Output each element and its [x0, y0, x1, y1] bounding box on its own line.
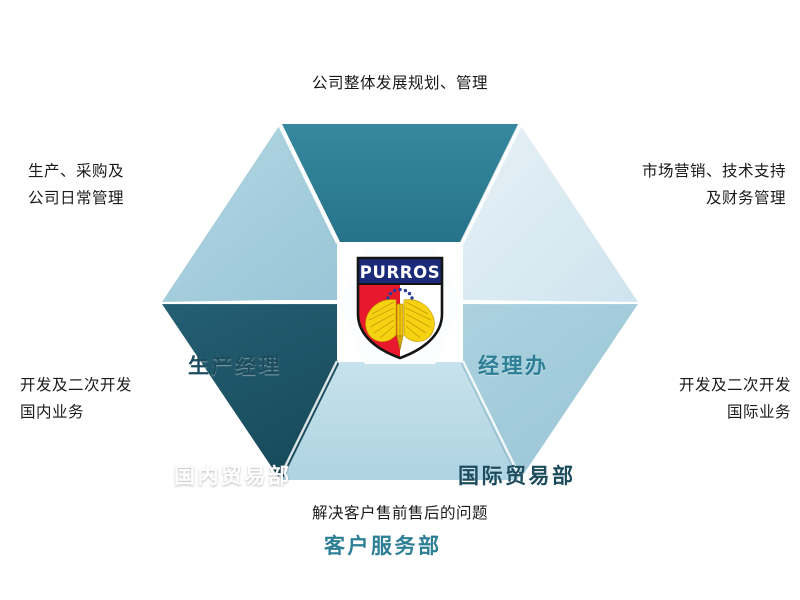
note-top-general-manager: 公司整体发展规划、管理 [200, 70, 600, 97]
segment-label-customer-service-dept: 客户服务部 [324, 530, 442, 560]
note-bottom-customer-service: 解决客户售前售后的问题 [200, 500, 600, 527]
purros-shield-logo: PURROS [330, 240, 470, 370]
note-right-international-trade: 开发及二次开发 国际业务 [616, 372, 791, 426]
purros-shield-svg: PURROS [330, 240, 470, 370]
brand-text: PURROS [360, 263, 440, 282]
diagram-canvas: 公司整体发展规划、管理 生产、采购及 公司日常管理 市场营销、技术支持 及财务管… [0, 0, 800, 600]
